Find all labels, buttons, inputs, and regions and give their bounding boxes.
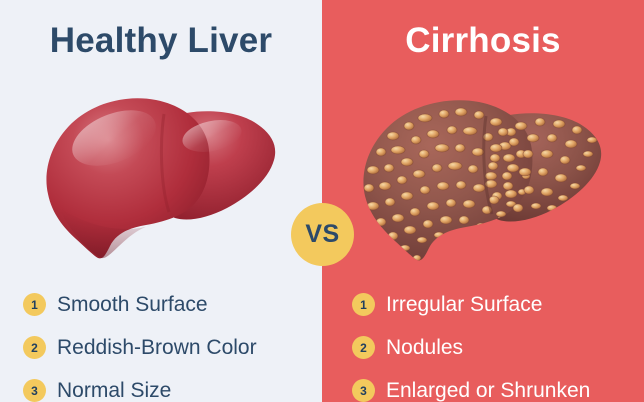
healthy-liver-svg bbox=[36, 88, 286, 268]
cirrhosis-title: Cirrhosis bbox=[322, 22, 644, 61]
feature-row: 2 Nodules bbox=[322, 326, 644, 369]
feature-row: 1 Smooth Surface bbox=[0, 283, 322, 326]
feature-number-badge: 1 bbox=[23, 293, 46, 316]
cirrhosis-panel: Cirrhosis bbox=[322, 0, 644, 402]
feature-label: Reddish-Brown Color bbox=[57, 336, 257, 360]
cirrhosis-liver-illustration bbox=[322, 88, 644, 268]
feature-label: Smooth Surface bbox=[57, 293, 208, 317]
healthy-liver-feature-list: 1 Smooth Surface 2 Reddish-Brown Color 3… bbox=[0, 283, 322, 402]
healthy-liver-panel: Healthy Liver bbox=[0, 0, 322, 402]
feature-row: 1 Irregular Surface bbox=[322, 283, 644, 326]
feature-label: Irregular Surface bbox=[386, 293, 542, 317]
liver-comparison-infographic: Healthy Liver bbox=[0, 0, 644, 402]
feature-number-badge: 3 bbox=[352, 379, 375, 402]
vs-label: VS bbox=[305, 220, 339, 249]
feature-number-badge: 2 bbox=[352, 336, 375, 359]
feature-row: 2 Reddish-Brown Color bbox=[0, 326, 322, 369]
feature-number-badge: 2 bbox=[23, 336, 46, 359]
feature-number-badge: 1 bbox=[352, 293, 375, 316]
feature-label: Nodules bbox=[386, 336, 463, 360]
healthy-liver-illustration bbox=[0, 88, 322, 268]
feature-label: Normal Size bbox=[57, 379, 171, 402]
feature-label: Enlarged or Shrunken bbox=[386, 379, 590, 402]
feature-row: 3 Normal Size bbox=[0, 369, 322, 402]
healthy-liver-title: Healthy Liver bbox=[0, 22, 322, 61]
cirrhosis-feature-list: 1 Irregular Surface 2 Nodules 3 Enlarged… bbox=[322, 283, 644, 402]
vs-badge: VS bbox=[291, 203, 354, 266]
feature-number-badge: 3 bbox=[23, 379, 46, 402]
cirrhosis-liver-svg bbox=[353, 88, 613, 268]
feature-row: 3 Enlarged or Shrunken bbox=[322, 369, 644, 402]
